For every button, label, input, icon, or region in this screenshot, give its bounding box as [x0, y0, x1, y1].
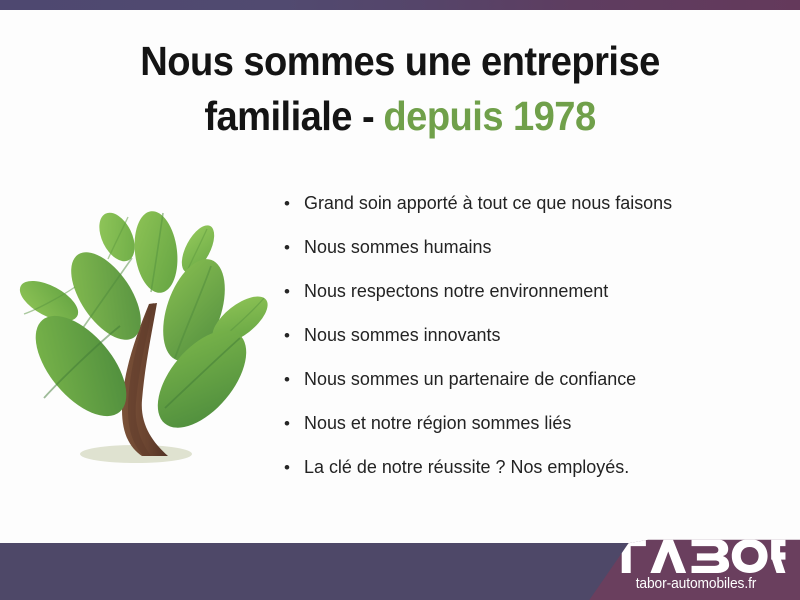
- list-item-label: Nous respectons notre environnement: [304, 280, 608, 302]
- top-accent-strip: [0, 0, 800, 10]
- list-item: • Nous sommes innovants: [284, 324, 784, 368]
- bullet-dot-icon: •: [284, 239, 304, 256]
- tree-leaf-top-center: [130, 209, 182, 296]
- bullet-list: • Grand soin apporté à tout ce que nous …: [284, 192, 784, 500]
- list-item: • Nous et notre région sommes liés: [284, 412, 784, 456]
- list-item-label: Nous sommes un partenaire de confiance: [304, 368, 636, 390]
- list-item-label: Nous et notre région sommes liés: [304, 412, 571, 434]
- list-item-label: Nous sommes humains: [304, 236, 491, 258]
- bullet-dot-icon: •: [284, 327, 304, 344]
- list-item-label: La clé de notre réussite ? Nos employés.: [304, 456, 629, 478]
- tabor-wordmark-icon: [606, 539, 786, 575]
- list-item-label: Nous sommes innovants: [304, 324, 500, 346]
- list-item-label: Grand soin apporté à tout ce que nous fa…: [304, 192, 672, 214]
- list-item: • Grand soin apporté à tout ce que nous …: [284, 192, 784, 236]
- title-line-2: familiale -depuis 1978: [28, 89, 772, 144]
- brand-website-label: tabor-automobiles.fr: [611, 576, 782, 592]
- title-line-1: Nous sommes une entreprise: [28, 34, 772, 89]
- bullet-dot-icon: •: [284, 283, 304, 300]
- slide-canvas: Nous sommes une entreprise familiale -de…: [0, 0, 800, 600]
- list-item: • La clé de notre réussite ? Nos employé…: [284, 456, 784, 500]
- brand-logo: tabor-automobiles.fr: [606, 539, 786, 592]
- page-title: Nous sommes une entreprise familiale -de…: [28, 34, 772, 143]
- bullet-dot-icon: •: [284, 371, 304, 388]
- bullet-dot-icon: •: [284, 459, 304, 476]
- list-item: • Nous sommes humains: [284, 236, 784, 280]
- list-item: • Nous sommes un partenaire de confiance: [284, 368, 784, 412]
- title-accent-text: depuis 1978: [383, 93, 595, 139]
- tree-illustration: [18, 186, 274, 486]
- title-line-2-plain: familiale -: [204, 93, 374, 139]
- bullet-dot-icon: •: [284, 415, 304, 432]
- list-item: • Nous respectons notre environnement: [284, 280, 784, 324]
- bullet-dot-icon: •: [284, 195, 304, 212]
